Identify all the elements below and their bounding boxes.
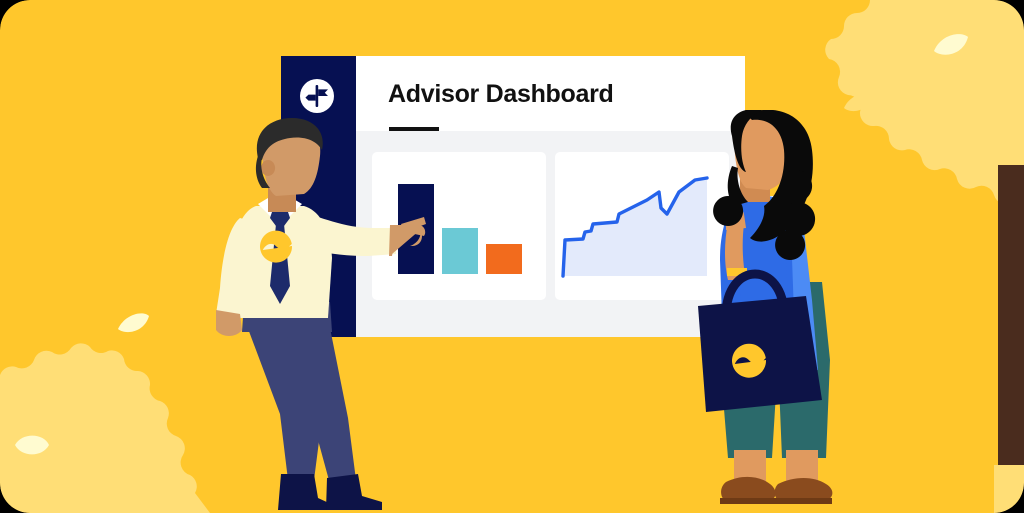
signpost-icon[interactable] (299, 78, 335, 114)
illustration-scene: Advisor Dashboard (0, 0, 1024, 513)
leaf-icon-bottom-mid (62, 376, 84, 392)
leaf-icon-left (117, 311, 150, 335)
leaf-icon-top-right (933, 32, 969, 58)
right-edge-strip (998, 0, 1024, 513)
woman-with-tote (686, 110, 886, 513)
leaf-icon-bottom-left (14, 432, 50, 458)
man-pointing (196, 118, 426, 513)
scallop-shape-bottom-left (0, 323, 210, 513)
bar-chart-bar-3 (486, 244, 522, 274)
page-title: Advisor Dashboard (388, 80, 614, 109)
bar-chart-bar-2 (442, 228, 478, 274)
